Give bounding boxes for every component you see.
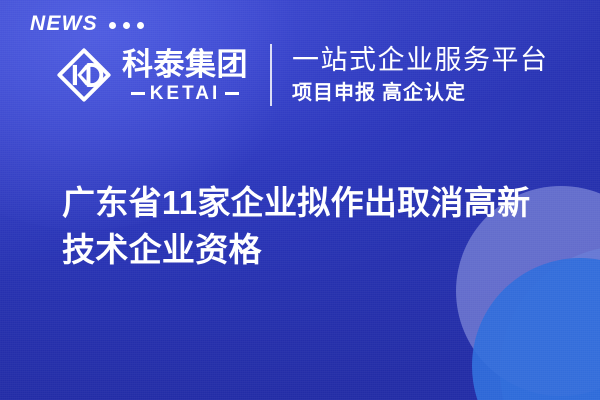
brand-name-en: KETAI (150, 84, 221, 103)
lockup-divider (270, 44, 272, 106)
brand-lockup: 科泰集团 KETAI 一站式企业服务平台 项目申报 高企认定 (56, 44, 549, 106)
ketai-kt-monogram-icon (56, 47, 112, 103)
tagline-primary: 一站式企业服务平台 (292, 45, 549, 75)
wordmark-rule-right (225, 92, 239, 95)
headline-text: 广东省11家企业拟作出取消高新技术企业资格 (62, 180, 562, 274)
brand-wordmark: 科泰集团 KETAI (122, 48, 248, 102)
tagline-secondary: 项目申报 高企认定 (292, 81, 549, 105)
brand-logo: 科泰集团 KETAI (56, 47, 248, 103)
news-label: NEWS (30, 12, 98, 36)
brand-name-en-row: KETAI (122, 84, 248, 103)
news-dots-icon (109, 22, 144, 29)
news-banner: NEWS 科泰集团 KETAI (0, 0, 600, 400)
wordmark-rule-left (131, 92, 145, 95)
brand-name-cn: 科泰集团 (122, 48, 248, 81)
news-eyebrow: NEWS (30, 12, 144, 36)
tagline-block: 一站式企业服务平台 项目申报 高企认定 (292, 45, 549, 104)
